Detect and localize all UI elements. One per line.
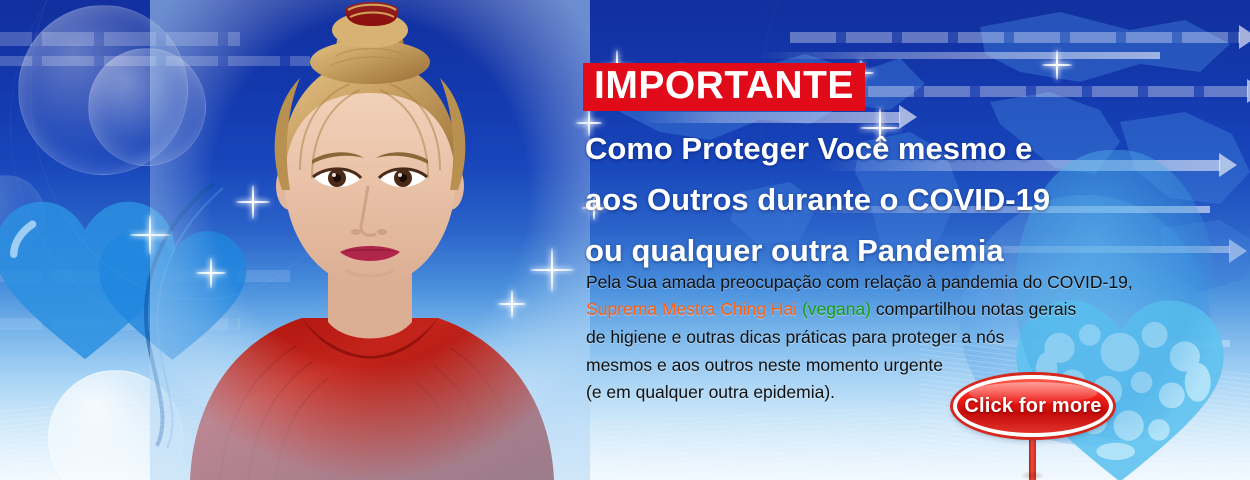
button-face[interactable]: Click for more	[953, 375, 1113, 437]
master-name: Suprema Mestra Ching Hai	[586, 299, 797, 319]
covid-awareness-banner: IMPORTANTE Como Proteger Você mesmo e ao…	[0, 0, 1250, 480]
important-badge: IMPORTANTE	[583, 63, 865, 111]
headline-line-2: aos Outros durante o COVID-19	[585, 182, 1050, 218]
body-line-3: de higiene e outras dicas práticas para …	[586, 327, 1004, 348]
click-for-more-label: Click for more	[964, 395, 1101, 418]
body-line-5: (e em qualquer outra epidemia).	[586, 382, 835, 403]
body-line-2: Suprema Mestra Ching Hai (vegana) compar…	[586, 299, 1076, 320]
body-line-1: Pela Sua amada preocupação com relação à…	[586, 272, 1133, 293]
text-content: IMPORTANTE Como Proteger Você mesmo e ao…	[583, 0, 1183, 480]
body-line-4: mesmos e aos outros neste momento urgent…	[586, 355, 943, 376]
headline-line-3: ou qualquer outra Pandemia	[585, 233, 1004, 269]
bubble	[0, 175, 45, 255]
headline-line-1: Como Proteger Você mesmo e	[585, 131, 1032, 167]
body-line-2-rest: compartilhou notas gerais	[876, 299, 1076, 319]
portrait-supreme-master-ching-hai	[150, 0, 590, 480]
vegan-tag: (vegana)	[802, 299, 871, 319]
click-for-more-button[interactable]: Click for more	[953, 375, 1113, 480]
